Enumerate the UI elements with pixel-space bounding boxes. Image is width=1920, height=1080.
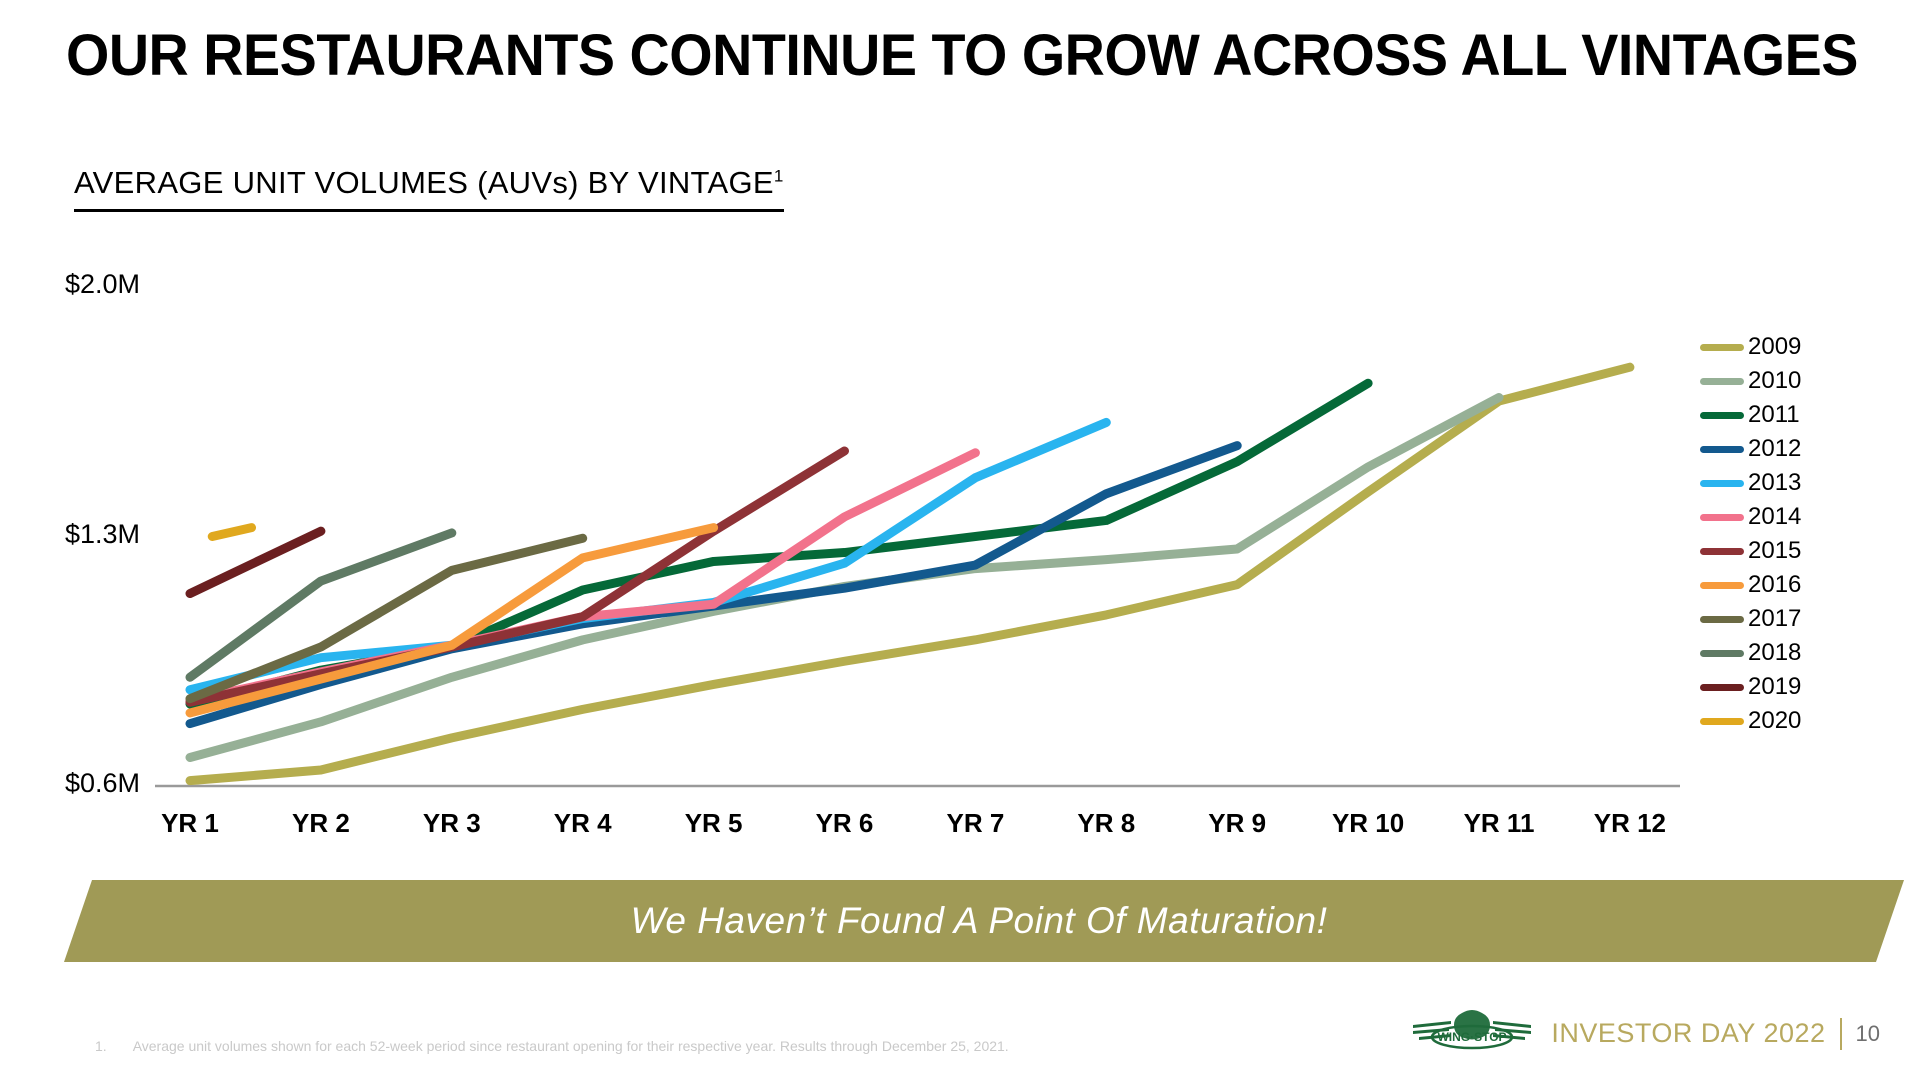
subtitle-block: AVERAGE UNIT VOLUMES (AUVs) BY VINTAGE1 — [74, 165, 784, 212]
callout-banner-text: We Haven’t Found A Point Of Maturation! — [631, 900, 1328, 942]
legend-swatch-icon — [1700, 718, 1744, 725]
footnote-number: 1. — [95, 1038, 107, 1054]
series-line-2011 — [190, 383, 1368, 704]
x-axis-tick-label: YR 5 — [649, 808, 779, 839]
legend-item-2012[interactable]: 2012 — [1700, 432, 1801, 466]
series-line-2009 — [190, 367, 1630, 780]
legend-swatch-icon — [1700, 412, 1744, 419]
footer-divider — [1840, 1018, 1842, 1050]
footer-brand: WING·STOP INVESTOR DAY 2022 10 — [1407, 1005, 1880, 1062]
legend-swatch-icon — [1700, 378, 1744, 385]
y-axis-tick-label: $1.3M — [20, 519, 140, 550]
series-line-2010 — [190, 397, 1499, 757]
legend-item-2014[interactable]: 2014 — [1700, 500, 1801, 534]
chart-legend: 2009201020112012201320142015201620172018… — [1700, 330, 1801, 738]
legend-item-label: 2019 — [1748, 675, 1801, 699]
series-line-2018 — [190, 533, 452, 677]
legend-item-2010[interactable]: 2010 — [1700, 364, 1801, 398]
legend-item-label: 2020 — [1748, 709, 1801, 733]
legend-swatch-icon — [1700, 514, 1744, 521]
legend-swatch-icon — [1700, 446, 1744, 453]
x-axis-tick-label: YR 1 — [125, 808, 255, 839]
x-axis-tick-label: YR 6 — [780, 808, 910, 839]
legend-item-label: 2016 — [1748, 573, 1801, 597]
wingstop-logo-icon: WING·STOP — [1407, 1005, 1537, 1062]
series-line-2012 — [190, 446, 1237, 724]
legend-item-2016[interactable]: 2016 — [1700, 568, 1801, 602]
legend-item-label: 2012 — [1748, 437, 1801, 461]
legend-item-label: 2013 — [1748, 471, 1801, 495]
legend-item-label: 2014 — [1748, 505, 1801, 529]
series-line-2014 — [190, 453, 975, 701]
legend-item-label: 2010 — [1748, 369, 1801, 393]
slide: OUR RESTAURANTS CONTINUE TO GROW ACROSS … — [0, 0, 1920, 1080]
legend-item-label: 2017 — [1748, 607, 1801, 631]
x-axis-tick-label: YR 7 — [910, 808, 1040, 839]
x-axis-tick-label: YR 8 — [1041, 808, 1171, 839]
y-axis-tick-label: $2.0M — [20, 269, 140, 300]
legend-swatch-icon — [1700, 650, 1744, 657]
x-axis-tick-label: YR 10 — [1303, 808, 1433, 839]
legend-item-2017[interactable]: 2017 — [1700, 602, 1801, 636]
legend-item-2011[interactable]: 2011 — [1700, 398, 1801, 432]
x-axis-tick-label: YR 12 — [1565, 808, 1695, 839]
footnote: 1. Average unit volumes shown for each 5… — [95, 1038, 1009, 1054]
legend-item-label: 2009 — [1748, 335, 1801, 359]
footnote-text: Average unit volumes shown for each 52-w… — [133, 1038, 1009, 1054]
legend-item-label: 2018 — [1748, 641, 1801, 665]
x-axis-tick-label: YR 3 — [387, 808, 517, 839]
svg-text:WING·STOP: WING·STOP — [1438, 1030, 1507, 1044]
series-line-2020 — [212, 528, 251, 537]
legend-item-2015[interactable]: 2015 — [1700, 534, 1801, 568]
legend-item-2020[interactable]: 2020 — [1700, 704, 1801, 738]
legend-item-label: 2015 — [1748, 539, 1801, 563]
series-line-2015 — [190, 451, 845, 702]
chart-subtitle-text: AVERAGE UNIT VOLUMES (AUVs) BY VINTAGE — [74, 165, 774, 200]
legend-swatch-icon — [1700, 616, 1744, 623]
legend-item-2019[interactable]: 2019 — [1700, 670, 1801, 704]
page-title: OUR RESTAURANTS CONTINUE TO GROW ACROSS … — [66, 22, 1858, 89]
legend-swatch-icon — [1700, 344, 1744, 351]
series-line-2013 — [190, 422, 1106, 689]
legend-item-2018[interactable]: 2018 — [1700, 636, 1801, 670]
page-number: 10 — [1856, 1021, 1880, 1047]
legend-swatch-icon — [1700, 684, 1744, 691]
legend-item-2013[interactable]: 2013 — [1700, 466, 1801, 500]
series-line-2016 — [190, 528, 714, 713]
legend-item-label: 2011 — [1748, 403, 1800, 427]
footnote-marker: 1 — [774, 167, 784, 186]
x-axis-tick-label: YR 11 — [1434, 808, 1564, 839]
series-line-2017 — [190, 538, 583, 698]
callout-banner: We Haven’t Found A Point Of Maturation! — [64, 880, 1904, 962]
x-axis-tick-label: YR 9 — [1172, 808, 1302, 839]
series-line-2019 — [190, 531, 321, 593]
legend-swatch-icon — [1700, 548, 1744, 555]
x-axis-tick-label: YR 4 — [518, 808, 648, 839]
y-axis-tick-label: $0.6M — [20, 768, 140, 799]
chart-subtitle: AVERAGE UNIT VOLUMES (AUVs) BY VINTAGE1 — [74, 165, 784, 212]
legend-item-2009[interactable]: 2009 — [1700, 330, 1801, 364]
footer-brand-text: INVESTOR DAY 2022 — [1551, 1018, 1825, 1049]
legend-swatch-icon — [1700, 480, 1744, 487]
legend-swatch-icon — [1700, 582, 1744, 589]
x-axis-tick-label: YR 2 — [256, 808, 386, 839]
